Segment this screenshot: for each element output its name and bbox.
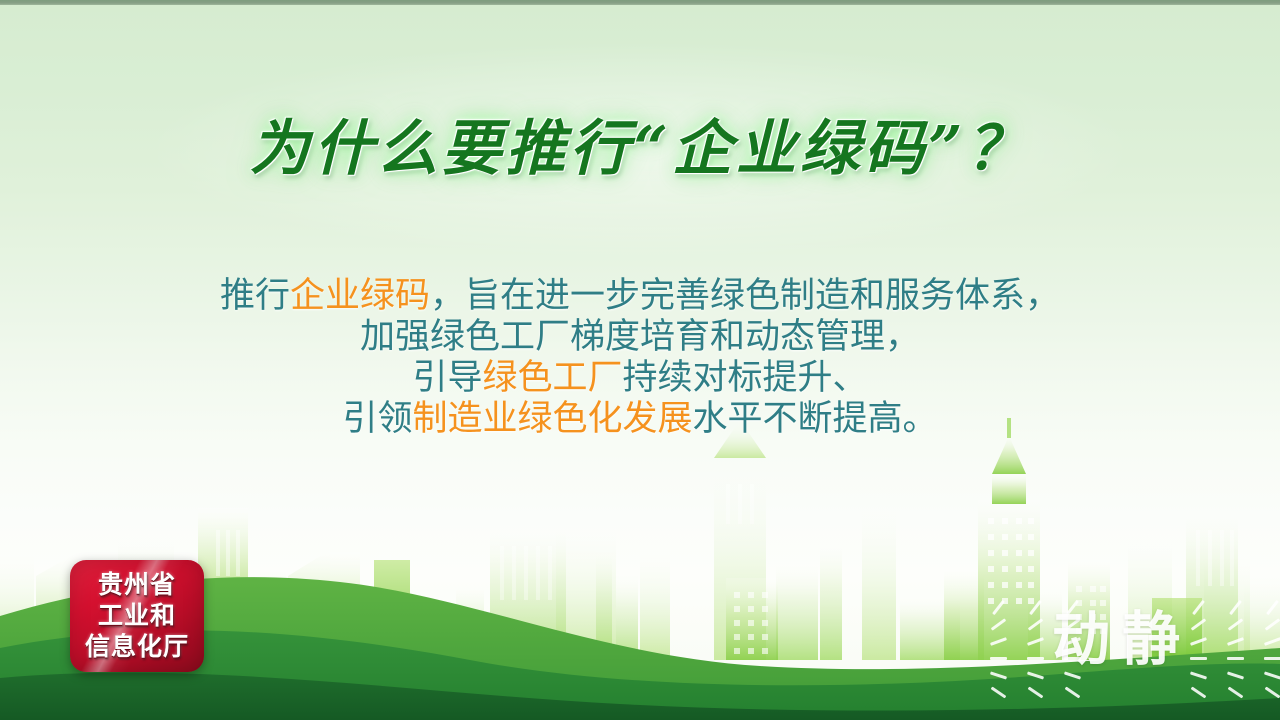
- dash-mark: [1027, 657, 1044, 660]
- logo-line: 信息化厅: [85, 632, 189, 663]
- body-line: 推行企业绿码，旨在进一步完善绿色制造和服务体系，: [0, 275, 1280, 316]
- watermark-label: 动静: [1052, 604, 1192, 676]
- channel-watermark: 动静: [990, 600, 1270, 695]
- dash-mark: [990, 657, 1007, 660]
- dash-mark: [1229, 600, 1242, 615]
- dash-mark: [1190, 657, 1207, 660]
- body-line: 加强绿色工厂梯度培育和动态管理，: [0, 316, 1280, 357]
- body-paragraph: 推行企业绿码，旨在进一步完善绿色制造和服务体系， 加强绿色工厂梯度培育和动态管理…: [0, 275, 1280, 439]
- body-segment: 引领: [342, 399, 412, 438]
- body-segment-highlight: 绿色工厂: [482, 358, 622, 397]
- body-segment: 水平不断提高。: [693, 399, 938, 438]
- dash-decoration-right: [1190, 606, 1280, 708]
- page-title: 为什么要推行“企业绿码”？: [0, 100, 1280, 187]
- body-segment: 加强绿色工厂梯度培育和动态管理，: [360, 317, 920, 356]
- top-border-strip: [0, 0, 1280, 5]
- dash-mark: [1029, 600, 1042, 615]
- dash-mark: [992, 600, 1005, 615]
- body-segment: ，旨在进一步完善绿色制造和服务体系，: [430, 276, 1060, 315]
- logo-line: 贵州省: [98, 570, 176, 601]
- broadcast-slide: 为什么要推行“企业绿码”？ 推行企业绿码，旨在进一步完善绿色制造和服务体系， 加…: [0, 0, 1280, 720]
- logo-line: 工业和: [98, 601, 176, 632]
- organization-logo-badge: 贵州省 工业和 信息化厅: [70, 560, 204, 672]
- body-segment: 推行: [220, 276, 290, 315]
- body-segment: 引导: [412, 358, 482, 397]
- dash-mark: [1264, 657, 1280, 660]
- body-segment: 持续对标提升、: [623, 358, 868, 397]
- body-line: 引导绿色工厂持续对标提升、: [0, 357, 1280, 398]
- body-segment-highlight: 制造业绿色化发展: [412, 399, 692, 438]
- body-segment-highlight: 企业绿码: [290, 276, 430, 315]
- dash-mark: [1227, 657, 1244, 660]
- body-line: 引领制造业绿色化发展水平不断提高。: [0, 398, 1280, 439]
- dash-mark: [1192, 600, 1205, 615]
